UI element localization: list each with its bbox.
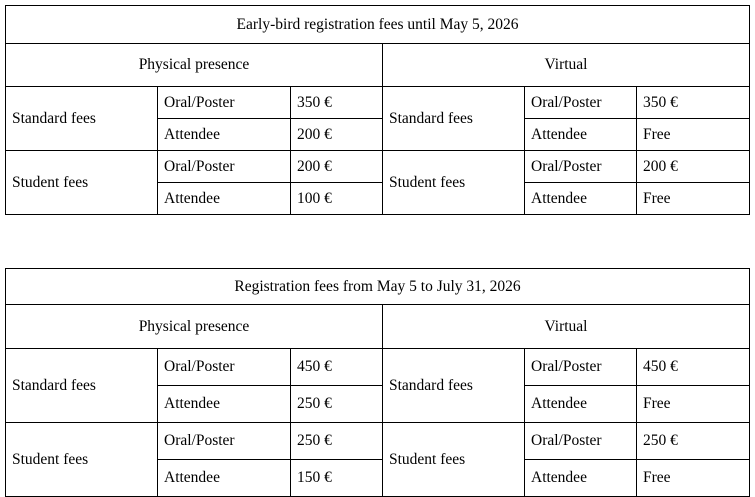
fee-category-label: Standard fees <box>6 87 158 151</box>
fee-price-value: 350 € <box>291 87 383 119</box>
table-row: Student fees Oral/Poster 200 € Student f… <box>6 151 750 183</box>
table-title-row: Early-bird registration fees until May 5… <box>6 6 750 44</box>
regular-fees-table: Registration fees from May 5 to July 31,… <box>5 268 750 497</box>
fee-item-label: Oral/Poster <box>525 423 637 460</box>
fee-price-value: 250 € <box>291 386 383 423</box>
fee-price-value: 200 € <box>291 119 383 151</box>
table-title: Registration fees from May 5 to July 31,… <box>6 269 750 305</box>
section-header-physical: Physical presence <box>6 44 383 87</box>
fee-price-value: Free <box>637 386 750 423</box>
fee-price-value: 250 € <box>291 423 383 460</box>
fee-category-label: Standard fees <box>383 87 525 151</box>
fee-price-value: 250 € <box>637 423 750 460</box>
registration-fees-page: Early-bird registration fees until May 5… <box>0 0 755 490</box>
fee-item-label: Oral/Poster <box>158 87 291 119</box>
fee-item-label: Attendee <box>158 183 291 215</box>
fee-item-label: Oral/Poster <box>158 349 291 386</box>
fee-category-label: Student fees <box>6 423 158 497</box>
fee-item-label: Attendee <box>525 183 637 215</box>
table-row: Standard fees Oral/Poster 350 € Standard… <box>6 87 750 119</box>
fee-item-label: Attendee <box>158 460 291 497</box>
fee-item-label: Oral/Poster <box>525 349 637 386</box>
fee-item-label: Oral/Poster <box>158 423 291 460</box>
fee-price-value: Free <box>637 119 750 151</box>
table-row: Student fees Oral/Poster 250 € Student f… <box>6 423 750 460</box>
fee-price-value: 100 € <box>291 183 383 215</box>
table-title: Early-bird registration fees until May 5… <box>6 6 750 44</box>
fee-price-value: 150 € <box>291 460 383 497</box>
table-section-header-row: Physical presence Virtual <box>6 305 750 349</box>
fee-price-value: 350 € <box>637 87 750 119</box>
early-bird-fees-table: Early-bird registration fees until May 5… <box>5 5 750 215</box>
fee-category-label: Standard fees <box>383 349 525 423</box>
fee-price-value: 450 € <box>291 349 383 386</box>
fee-price-value: Free <box>637 183 750 215</box>
fee-item-label: Oral/Poster <box>525 151 637 183</box>
fee-item-label: Oral/Poster <box>158 151 291 183</box>
fee-price-value: 200 € <box>637 151 750 183</box>
fee-item-label: Oral/Poster <box>525 87 637 119</box>
section-header-virtual: Virtual <box>383 305 750 349</box>
fee-item-label: Attendee <box>525 119 637 151</box>
fee-item-label: Attendee <box>158 386 291 423</box>
table-section-header-row: Physical presence Virtual <box>6 44 750 87</box>
section-header-physical: Physical presence <box>6 305 383 349</box>
fee-category-label: Student fees <box>6 151 158 215</box>
fee-item-label: Attendee <box>525 460 637 497</box>
fee-price-value: Free <box>637 460 750 497</box>
fee-category-label: Student fees <box>383 151 525 215</box>
table-title-row: Registration fees from May 5 to July 31,… <box>6 269 750 305</box>
fee-price-value: 200 € <box>291 151 383 183</box>
fee-item-label: Attendee <box>158 119 291 151</box>
fee-item-label: Attendee <box>525 386 637 423</box>
table-row: Standard fees Oral/Poster 450 € Standard… <box>6 349 750 386</box>
section-header-virtual: Virtual <box>383 44 750 87</box>
fee-category-label: Student fees <box>383 423 525 497</box>
fee-price-value: 450 € <box>637 349 750 386</box>
fee-category-label: Standard fees <box>6 349 158 423</box>
